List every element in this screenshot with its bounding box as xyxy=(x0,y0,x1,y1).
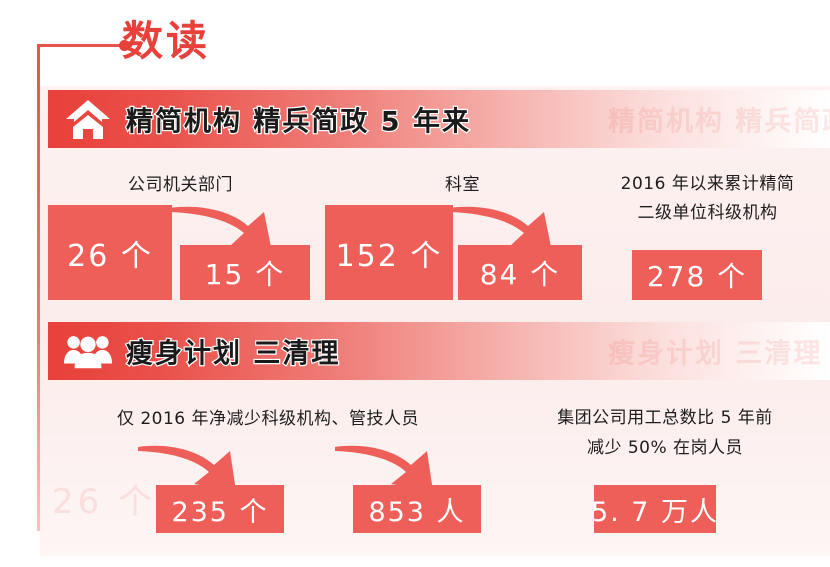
value-box-company-departments-before: 26 个 xyxy=(48,205,172,300)
section-banner-title-ghost: 瘦身计划 三清理 xyxy=(608,332,822,371)
house-icon xyxy=(64,97,112,141)
value-box-on-duty-headcount: 5. 7 万人 xyxy=(594,485,716,533)
caption-2016-net-reduction: 仅 2016 年净减少科级机构、管技人员 xyxy=(48,404,488,429)
section-banner-title: 精简机构 精兵简政 5 年来 xyxy=(126,100,471,139)
people-group-icon xyxy=(64,329,112,373)
page-title: 数读 xyxy=(122,21,210,62)
section-banner-streamline: 精简机构 精兵简政 5 年来 精简机构 精兵简政 5 年来 xyxy=(48,90,830,148)
section-banner-slimming: 瘦身计划 三清理 瘦身计划 三清理 xyxy=(48,322,830,380)
caption-company-departments: 公司机关部门 xyxy=(48,170,313,195)
bracket-vertical-line xyxy=(37,44,40,531)
caption-cumulative-line1: 2016 年以来累计精简 xyxy=(585,170,830,200)
value-box-cumulative-total: 278 个 xyxy=(632,250,762,300)
section-banner-title: 瘦身计划 三清理 xyxy=(126,332,340,371)
value-box-net-reduced-staff: 853 人 xyxy=(353,485,481,533)
caption-cumulative-line2: 二级单位科级机构 xyxy=(585,199,830,229)
infographic-root: 数读 精简机构 精兵简政 5 年来 精简机构 精兵简政 5 年来 公司机关部门 … xyxy=(0,0,830,567)
value-box-sections-after: 84 个 xyxy=(458,245,582,300)
value-box-net-reduced-orgs: 235 个 xyxy=(156,485,284,533)
caption-sections: 科室 xyxy=(330,170,595,195)
bracket-horizontal-line xyxy=(37,44,125,47)
caption-group-workforce-line2: 减少 50% 在岗人员 xyxy=(510,434,820,464)
caption-group-workforce-line1: 集团公司用工总数比 5 年前 xyxy=(510,404,820,434)
value-box-company-departments-after: 15 个 xyxy=(180,245,310,300)
value-box-sections-before: 152 个 xyxy=(325,205,453,300)
section-banner-title-ghost: 精简机构 精兵简政 5 年来 xyxy=(608,100,830,139)
